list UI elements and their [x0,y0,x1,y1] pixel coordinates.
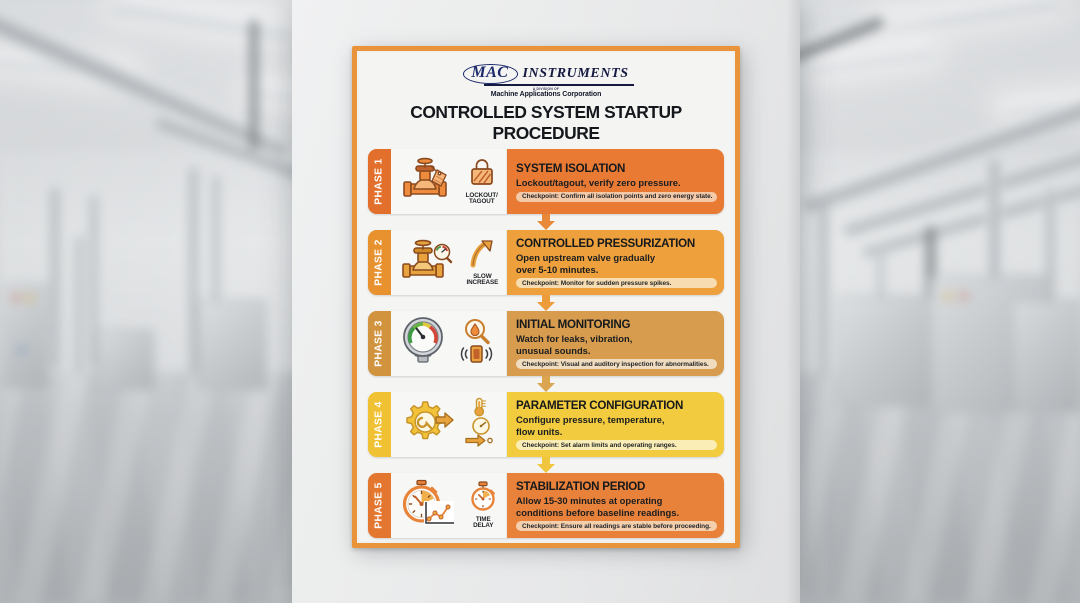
phase-row-2[interactable]: PHASE 2SLOWINCREASECONTROLLED PRESSURIZA… [368,230,724,295]
phase-checkpoint: Checkpoint: Visual and auditory inspecti… [516,359,717,369]
down-arrow-icon [535,457,557,473]
stopwatch-icon-label: TIMEDELAY [473,517,493,530]
down-arrow-icon [535,214,557,230]
phase-heading: CONTROLLED PRESSURIZATION [516,237,717,250]
phase-icon-panel-4 [391,392,507,457]
leak-magnifier-and-vibration-sensor-icon [458,316,498,371]
phase-icon-panel-3 [391,311,507,376]
phase-description: Watch for leaks, vibration,unusual sound… [516,333,717,356]
phase-tab-4: PHASE 4 [368,392,391,457]
pressure-gauge-icon-graphic [399,316,447,371]
curved-up-arrow-icon-label: SLOWINCREASE [466,274,498,287]
logo-underline [484,84,634,86]
phase-tab-1: PHASE 1 [368,149,391,214]
phase-row-5[interactable]: PHASE 5TIMEDELAYSTABILIZATION PERIODAllo… [368,473,724,538]
down-arrow-icon [535,295,557,311]
phase-checkpoint: Checkpoint: Confirm all isolation points… [516,192,717,202]
logo-mark-mac: MAC [463,64,518,84]
phase-tab-5: PHASE 5 [368,473,391,538]
thermometer-gauge-flow-icon [464,397,498,452]
phase-body-4: PARAMETER CONFIGURATIONConfigure pressur… [507,392,724,457]
phase-tab-label: PHASE 3 [374,320,385,366]
stopwatch-trend-chart-icon [400,479,458,532]
phase-tab-2: PHASE 2 [368,230,391,295]
phase-body-5: STABILIZATION PERIODAllow 15-30 minutes … [507,473,724,538]
screenshot-scene: MAC INSTRUMENTS A DIVISION OF Machine Ap… [0,0,1080,603]
phase-description: Allow 15-30 minutes at operatingconditio… [516,495,717,518]
padlock-icon: LOCKOUT/TAGOUT [466,157,498,206]
phase-body-1: SYSTEM ISOLATIONLockout/tagout, verify z… [507,149,724,214]
phase-checkpoint: Checkpoint: Ensure all readings are stab… [516,521,717,531]
phase-heading: PARAMETER CONFIGURATION [516,399,717,412]
logo-company-name: Machine Applications Corporation [491,91,602,98]
phase-checkpoint: Checkpoint: Monitor for sudden pressure … [516,278,717,288]
phase-tab-label: PHASE 1 [374,158,385,204]
phase-description: Lockout/tagout, verify zero pressure. [516,177,717,188]
company-logo: MAC INSTRUMENTS A DIVISION OF Machine Ap… [365,64,727,98]
phase-row-3[interactable]: PHASE 3INITIAL MONITORINGWatch for leaks… [368,311,724,376]
globe-valve-tagged-icon [399,156,455,207]
phase-row-1[interactable]: PHASE 1LOCKOUT/TAGOUTSYSTEM ISOLATIONLoc… [368,149,724,214]
phase-tab-label: PHASE 4 [374,401,385,447]
phase-heading: STABILIZATION PERIOD [516,480,717,493]
stopwatch-icon: TIMEDELAY [469,481,497,530]
padlock-icon-label: LOCKOUT/TAGOUT [466,193,498,206]
stopwatch-trend-chart-icon-graphic [400,479,458,532]
phase-icon-panel-5: TIMEDELAY [391,473,507,538]
phase-description: Open upstream valve graduallyover 5-10 m… [516,252,717,275]
phase-icon-panel-2: SLOWINCREASE [391,230,507,295]
curved-up-arrow-icon: SLOWINCREASE [466,238,498,287]
gear-wrench-icon-graphic [399,399,455,450]
padlock-icon-graphic [469,157,495,192]
phase-body-3: INITIAL MONITORINGWatch for leaks, vibra… [507,311,724,376]
phase-icon-panel-1: LOCKOUT/TAGOUT [391,149,507,214]
phase-row-4[interactable]: PHASE 4PARAMETER CONFIGURATIONConfigure … [368,392,724,457]
thermometer-gauge-flow-icon-graphic [464,397,498,452]
logo-wordmark-instruments: INSTRUMENTS [522,66,628,82]
down-arrow-icon [535,376,557,392]
phase-checkpoint: Checkpoint: Set alarm limits and operati… [516,440,717,450]
gear-wrench-icon [399,399,455,450]
logo-row: MAC INSTRUMENTS [463,64,628,84]
stopwatch-icon-graphic [469,481,497,516]
phase-description: Configure pressure, temperature,flow uni… [516,414,717,437]
phase-connector-1 [368,214,724,230]
pressure-gauge-icon [399,316,447,371]
phase-tab-label: PHASE 2 [374,239,385,285]
phase-connector-3 [368,376,724,392]
poster-inner-frame: MAC INSTRUMENTS A DIVISION OF Machine Ap… [357,51,735,543]
phase-connector-2 [368,295,724,311]
leak-magnifier-and-vibration-sensor-icon-graphic [458,316,498,371]
phase-tab-3: PHASE 3 [368,311,391,376]
phase-connector-4 [368,457,724,473]
phase-body-2: CONTROLLED PRESSURIZATIONOpen upstream v… [507,230,724,295]
phase-tab-label: PHASE 5 [374,482,385,528]
phase-list: PHASE 1LOCKOUT/TAGOUTSYSTEM ISOLATIONLoc… [365,149,727,538]
globe-valve-tagged-icon-graphic [399,156,455,207]
phase-heading: SYSTEM ISOLATION [516,162,717,175]
valve-with-gauge-icon-graphic [399,237,457,288]
procedure-poster: MAC INSTRUMENTS A DIVISION OF Machine Ap… [352,46,740,548]
phase-heading: INITIAL MONITORING [516,318,717,331]
poster-title: CONTROLLED SYSTEM STARTUP PROCEDURE [365,102,727,144]
valve-with-gauge-icon [399,237,457,288]
curved-up-arrow-icon-graphic [469,238,495,273]
